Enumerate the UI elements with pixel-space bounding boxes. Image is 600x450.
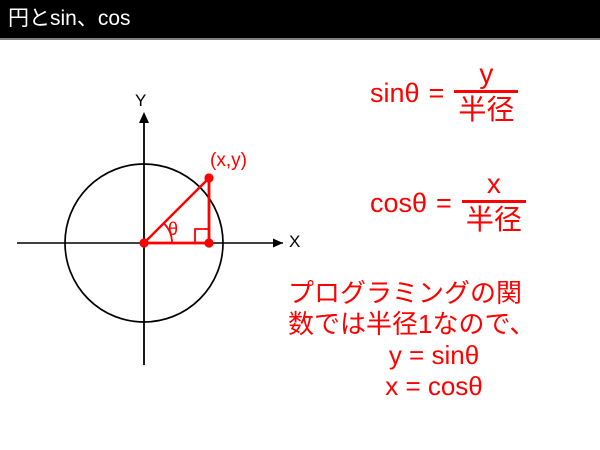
formula-sin: sinθ = y 半径: [370, 58, 518, 127]
formula-cos-equals: =: [436, 188, 462, 218]
note-line-3: y = sinθ: [288, 340, 598, 371]
formula-cos-fraction: x 半径: [462, 168, 526, 237]
note-line-4: x = cosθ: [288, 371, 598, 402]
formula-cos-lhs: cosθ: [370, 188, 436, 218]
title-bar: 円とsin、cos: [0, 0, 600, 38]
page-title: 円とsin、cos: [8, 5, 131, 33]
origin-point: [139, 238, 148, 247]
formula-sin-denominator: 半径: [454, 93, 518, 127]
theta-angle-label: θ: [168, 219, 178, 239]
note-line-2: 数では半径1なので、: [288, 309, 598, 340]
x-foot-point: [204, 238, 213, 247]
formula-cos-denominator: 半径: [462, 203, 526, 237]
y-axis-arrowhead: [139, 112, 149, 123]
formula-cos-numerator: x: [462, 168, 526, 200]
formula-sin-lhs: sinθ: [370, 78, 429, 108]
unit-circle-diagram: Y X (x,y) θ: [0, 38, 330, 450]
formula-sin-equals: =: [429, 78, 455, 108]
point-coordinate-label: (x,y): [210, 150, 247, 172]
circle-point: [204, 173, 213, 182]
formula-sin-fraction: y 半径: [454, 58, 518, 127]
note-line-1: プログラミングの関: [288, 278, 598, 309]
x-axis-label: X: [289, 232, 300, 252]
formula-sin-numerator: y: [454, 58, 518, 90]
y-axis-label: Y: [135, 91, 146, 111]
formula-cos: cosθ = x 半径: [370, 168, 526, 237]
x-axis-arrowhead: [273, 239, 283, 248]
explanation-note: プログラミングの関 数では半径1なので、 y = sinθ x = cosθ: [288, 278, 598, 402]
